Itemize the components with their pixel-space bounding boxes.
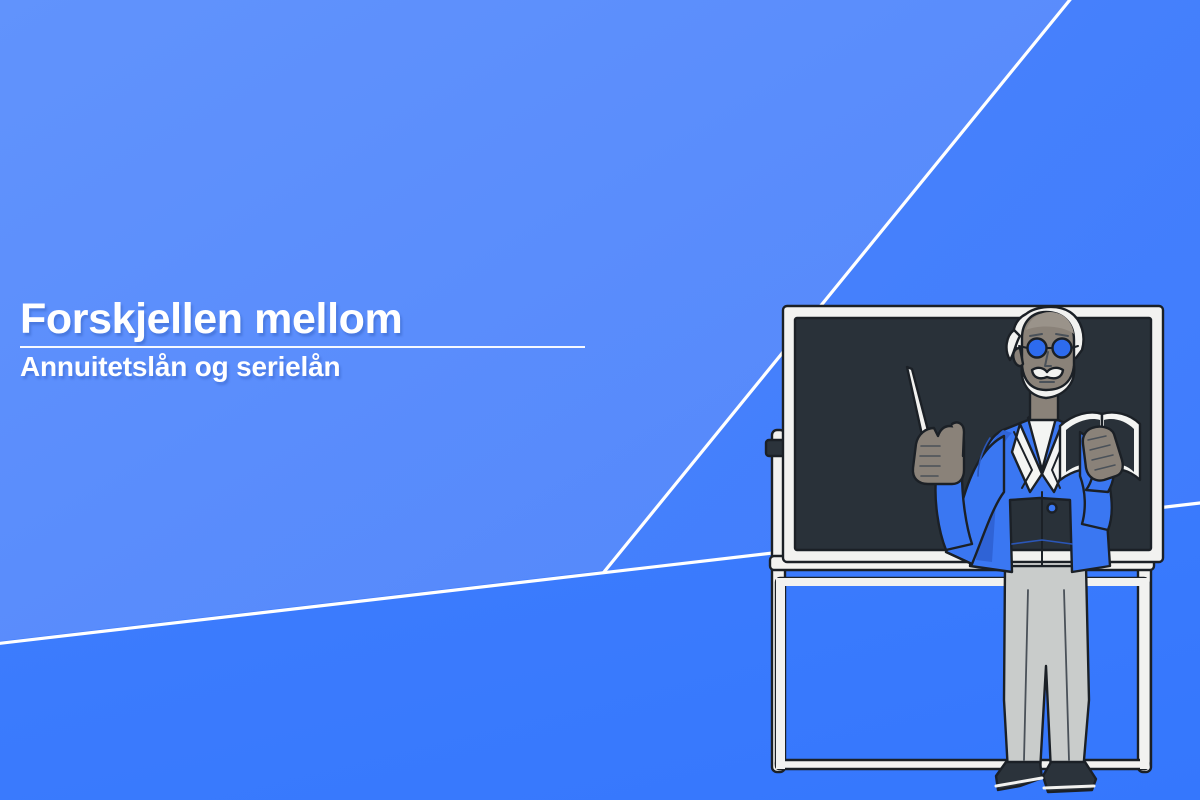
page-subtitle: Annuitetslån og serielån <box>20 351 620 383</box>
title-divider <box>20 346 585 348</box>
trousers <box>1004 566 1089 772</box>
slide-canvas: Forskjellen mellom Annuitetslån og serie… <box>0 0 1200 800</box>
page-title: Forskjellen mellom <box>20 296 620 342</box>
headline-block: Forskjellen mellom Annuitetslån og serie… <box>20 296 620 383</box>
teacher-illustration <box>0 0 1200 800</box>
